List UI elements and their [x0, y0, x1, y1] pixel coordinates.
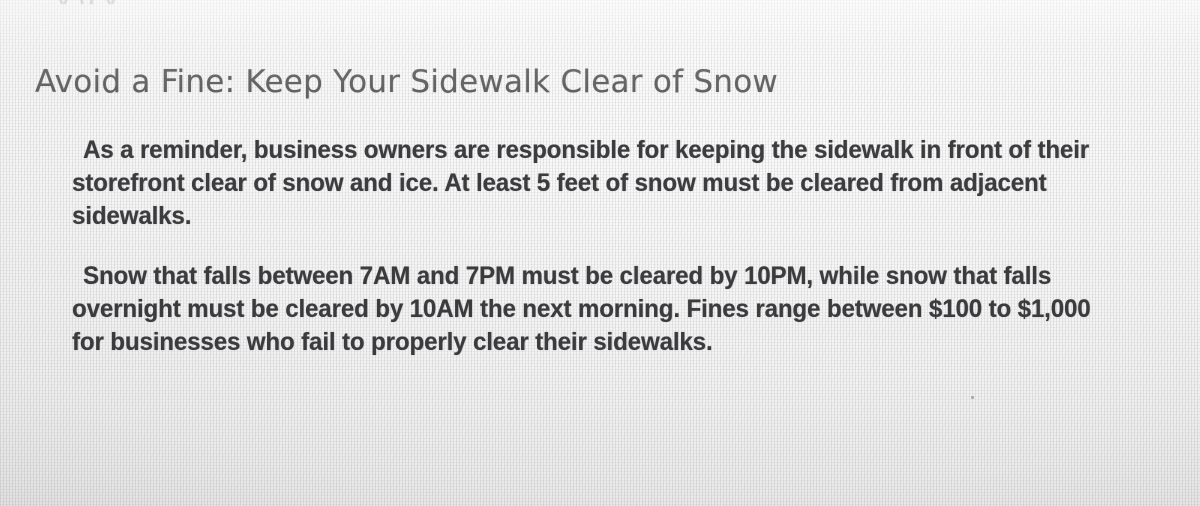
- paragraph-line-text: storefront clear of snow and ice. At lea…: [72, 167, 1047, 200]
- paragraph-line-text: for businesses who fail to properly clea…: [72, 326, 713, 359]
- document-content: y g y Avoid a Fine: Keep Your Sidewalk C…: [0, 0, 1200, 506]
- paragraph-line: for businesses who fail to properly clea…: [72, 326, 1200, 359]
- paragraph-line: Snow that falls between 7AM and 7PM must…: [72, 260, 1200, 293]
- paragraph-clearing-deadlines: Snow that falls between 7AM and 7PM must…: [72, 260, 1200, 359]
- paragraph-line: sidewalks.: [72, 200, 1200, 233]
- paragraph-line: overnight must be cleared by 10AM the ne…: [72, 293, 1200, 326]
- dust-speck: [971, 396, 974, 399]
- paragraph-line: storefront clear of snow and ice. At lea…: [72, 167, 1200, 200]
- body-copy: As a reminder, business owners are respo…: [72, 134, 1200, 359]
- clipped-line-above-headline: y g y: [56, 0, 476, 4]
- paragraph-line-text: sidewalks.: [72, 200, 191, 233]
- paragraph-line-text: Snow that falls between 7AM and 7PM must…: [83, 260, 1051, 293]
- paragraph-line-text: overnight must be cleared by 10AM the ne…: [72, 293, 1091, 326]
- paragraph-line-text: As a reminder, business owners are respo…: [83, 134, 1089, 167]
- paragraph-reminder: As a reminder, business owners are respo…: [72, 134, 1200, 233]
- document-screenshot: y g y Avoid a Fine: Keep Your Sidewalk C…: [0, 0, 1200, 506]
- paragraph-line: As a reminder, business owners are respo…: [72, 134, 1200, 167]
- page-title: Avoid a Fine: Keep Your Sidewalk Clear o…: [35, 62, 778, 102]
